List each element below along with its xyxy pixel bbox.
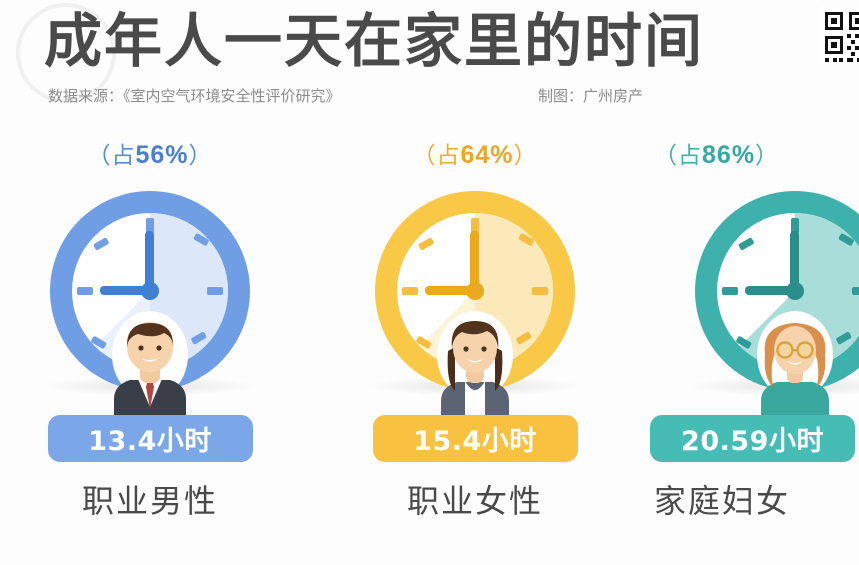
qr-code-icon[interactable] [821,6,859,64]
value-badge: 20.59小时 [650,415,855,462]
percent-unit: % [165,141,188,169]
percent-close-paren: ） [514,142,538,168]
value-badge: 15.4小时 [373,415,578,462]
percent-label: （占64%） [330,138,620,172]
percent-open-paren: （占 [654,142,702,168]
clock-illustration [650,180,859,415]
percent-open-paren: （占 [87,142,135,168]
businessman-avatar-icon [90,303,210,421]
percent-close-paren: ） [189,142,213,168]
percent-number: 56 [135,141,165,169]
value-badge: 13.4小时 [48,415,253,462]
percent-open-paren: （占 [412,142,460,168]
percent-close-paren: ） [755,142,779,168]
clock-illustration [5,180,295,415]
column-caption: 职业女性 [330,476,620,522]
percent-label: （占56%） [5,138,295,172]
percent-label: （占86%） [650,138,859,172]
column-caption: 家庭妇女 [650,476,859,522]
page-title: 成年人一天在家里的时间 [44,7,704,75]
data-source-label: 数据来源：《室内空气环境安全性评价研究》 [48,85,341,106]
percent-number: 64 [460,141,490,169]
housewife-avatar-icon [735,303,855,421]
clock-illustration [330,180,620,415]
stat-column-working-women: （占64%） [330,138,620,522]
stat-column-housewives: （占86%） [650,138,859,522]
stat-column-working-men: （占56%） [5,138,295,522]
businesswoman-avatar-icon [415,303,535,421]
percent-unit: % [490,141,513,169]
percent-number: 86 [702,141,732,169]
infographic-canvas: 成年人一天在家里的时间 数据来源：《室内空气环境安全性评价研究》 制图：广州房产 [0,0,859,565]
percent-unit: % [732,141,755,169]
subtitle-row: 数据来源：《室内空气环境安全性评价研究》 制图：广州房产 [48,85,748,109]
column-caption: 职业男性 [5,476,295,522]
credit-label: 制图：广州房产 [538,85,643,106]
